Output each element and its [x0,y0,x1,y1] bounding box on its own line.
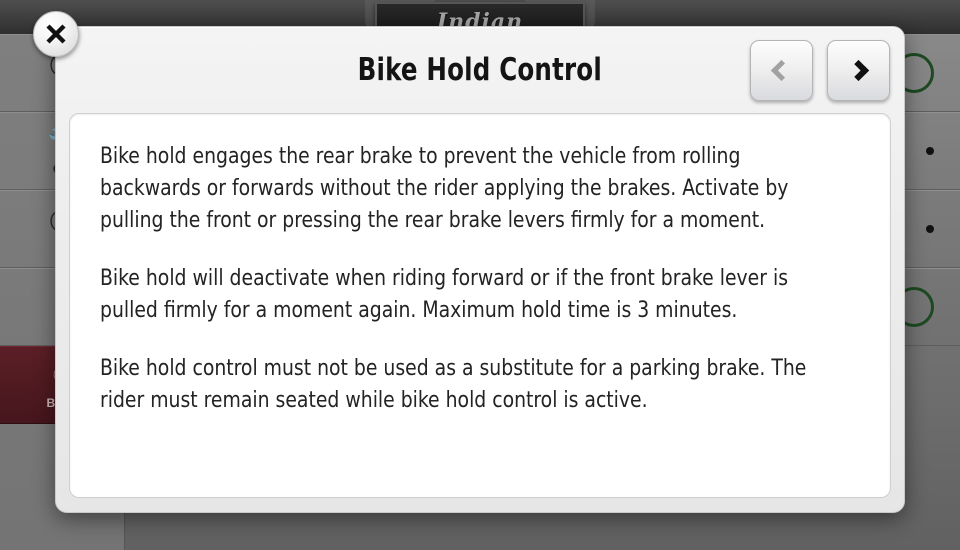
close-button[interactable] [33,11,79,57]
next-page-button[interactable] [827,40,890,101]
modal-content-card: Bike hold engages the rear brake to prev… [69,113,891,498]
toggle-switch-icon[interactable] [926,147,934,155]
page-title: Bike Hold Control [358,52,602,88]
body-paragraph-3: Bike hold control must not be used as a … [100,352,807,416]
body-paragraph-1: Bike hold engages the rear brake to prev… [100,140,807,236]
toggle-switch-icon[interactable] [926,225,934,233]
chevron-left-icon [771,60,792,81]
help-modal-dialog: Bike Hold Control Bike hold engages the … [55,26,905,513]
chevron-right-icon [848,60,869,81]
close-icon [45,23,67,45]
body-paragraph-2: Bike hold will deactivate when riding fo… [100,262,807,326]
modal-pagination-nav [750,40,890,101]
modal-header: Bike Hold Control [56,27,904,113]
previous-page-button[interactable] [750,40,813,101]
